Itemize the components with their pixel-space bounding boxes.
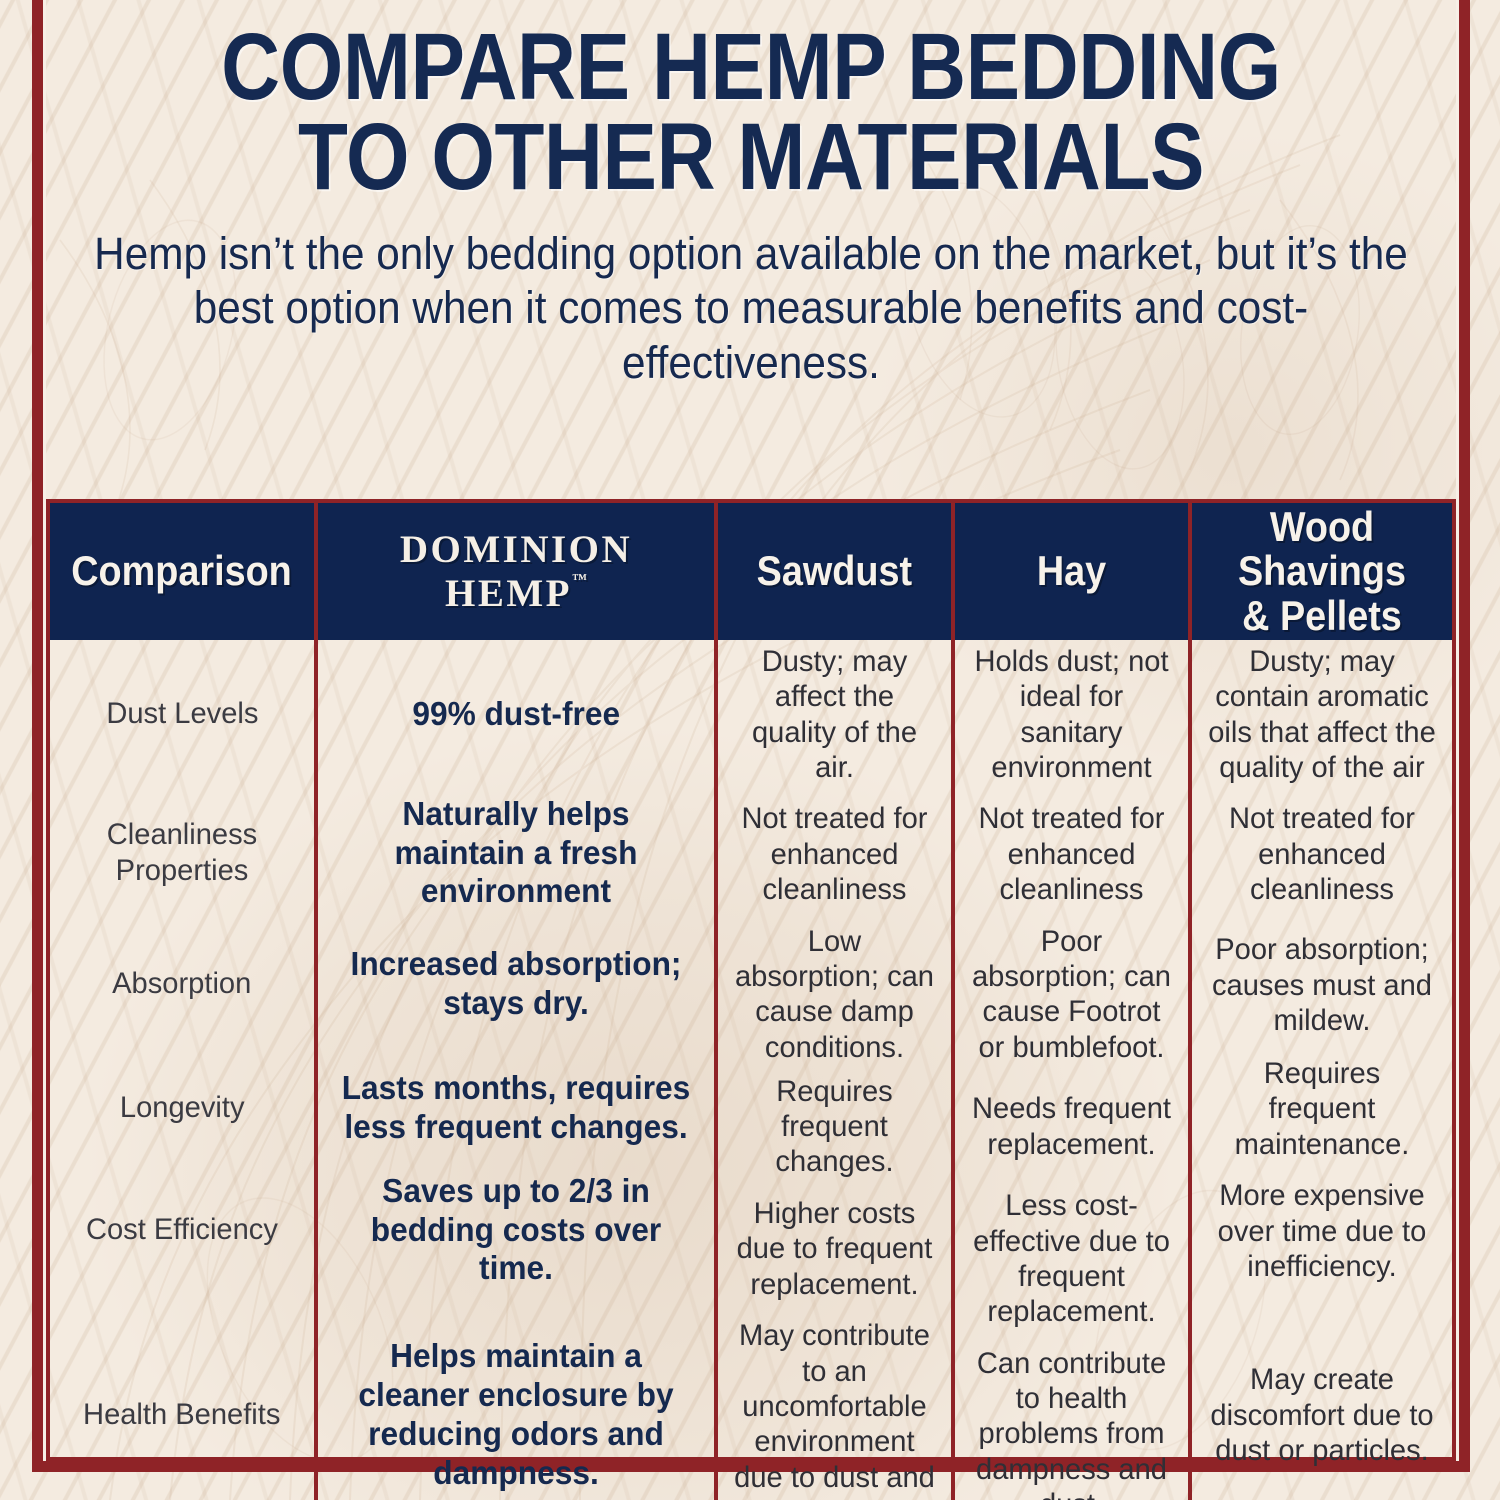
cell-value: Requires frequent changes. — [733, 1074, 936, 1180]
cell-value: Higher costs due to frequent replacement… — [733, 1196, 936, 1302]
table-cell: More expensive over time due to ineffici… — [1192, 1167, 1452, 1297]
table-cell: Longevity — [50, 1050, 314, 1165]
brand-name-top: DOMINION — [400, 528, 632, 572]
page-subtitle: Hemp isn’t the only bedding option avail… — [88, 227, 1413, 392]
column-header-label: Hay — [1037, 549, 1106, 594]
row-label: Cleanliness Properties — [66, 817, 299, 889]
table-cell: Can contribute to health problems from d… — [955, 1334, 1188, 1500]
cell-value: Poor absorption; can cause Footrot or bu… — [970, 924, 1173, 1066]
column-header-label: Sawdust — [757, 549, 912, 594]
column-header-label-line-2: & Pellets — [1242, 592, 1402, 639]
table-body: Dust Levels Cleanliness Properties Absor… — [50, 640, 1452, 1500]
cell-value: Not treated for enhanced cleanliness — [733, 801, 936, 907]
cell-value: 99% dust-free — [412, 695, 620, 734]
cell-value: Can contribute to health problems from d… — [970, 1346, 1173, 1500]
cell-value: Low absorption; can cause damp condition… — [733, 924, 936, 1066]
brand-name-bottom: HEMP™ — [400, 572, 632, 616]
table-cell: Health Benefits — [50, 1295, 314, 1500]
table-column-wood-shavings: Dusty; may contain aromatic oils that af… — [1192, 640, 1452, 1500]
column-header-wood-shavings: Wood Shavings & Pellets — [1192, 503, 1452, 640]
row-label: Dust Levels — [106, 696, 258, 732]
table-cell: Holds dust; not ideal for sanitary envir… — [955, 640, 1188, 790]
cell-value: Dusty; may affect the quality of the air… — [733, 644, 936, 786]
table-cell: May contribute to an uncomfortable envir… — [718, 1314, 951, 1500]
table-header-row: Comparison DOMINION HEMP™ Sawdust Hay Wo… — [50, 503, 1452, 640]
cell-value: Lasts months, requires less frequent cha… — [337, 1069, 694, 1147]
cell-value: Not treated for enhanced cleanliness — [970, 801, 1173, 907]
cell-value: Requires frequent maintenance. — [1208, 1056, 1437, 1162]
page-title: COMPARE HEMP BEDDING TO OTHER MATERIALS — [145, 22, 1358, 203]
table-cell: Not treated for enhanced cleanliness — [955, 790, 1188, 920]
table-cell: Saves up to 2/3 in bedding costs over ti… — [318, 1165, 714, 1295]
table-cell: Dust Levels — [50, 640, 314, 788]
table-cell: Dusty; may affect the quality of the air… — [718, 640, 951, 790]
row-label: Cost Efficiency — [86, 1212, 278, 1248]
column-header-dominion-hemp: DOMINION HEMP™ — [318, 503, 718, 640]
brand-name-bottom-text: HEMP — [445, 572, 572, 615]
column-header-comparison: Comparison — [50, 503, 318, 640]
table-cell: Requires frequent maintenance. — [1192, 1052, 1452, 1167]
table-column-dominion-hemp: 99% dust-free Naturally helps maintain a… — [318, 640, 718, 1500]
cell-value: Saves up to 2/3 in bedding costs over ti… — [337, 1172, 694, 1289]
table-cell: Needs frequent replacement. — [955, 1069, 1188, 1184]
comparison-table: Comparison DOMINION HEMP™ Sawdust Hay Wo… — [46, 499, 1456, 1461]
dominion-hemp-logo: DOMINION HEMP™ — [400, 528, 632, 615]
table-cell: Not treated for enhanced cleanliness — [718, 790, 951, 920]
table-column-comparison: Dust Levels Cleanliness Properties Absor… — [50, 640, 318, 1500]
page-title-line-2: TO OTHER MATERIALS — [145, 112, 1358, 202]
table-cell: Cleanliness Properties — [50, 788, 314, 918]
cell-value: Increased absorption; stays dry. — [337, 945, 694, 1023]
column-header-label: Wood Shavings & Pellets — [1212, 505, 1432, 639]
masthead: COMPARE HEMP BEDDING TO OTHER MATERIALS … — [46, 22, 1456, 391]
cell-value: Naturally helps maintain a fresh environ… — [337, 795, 694, 912]
trademark-symbol: ™ — [572, 572, 587, 588]
column-header-label: Comparison — [72, 549, 293, 594]
cell-value: Not treated for enhanced cleanliness — [1208, 801, 1437, 907]
cell-value: Helps maintain a cleaner enclosure by re… — [337, 1337, 694, 1493]
table-column-sawdust: Dusty; may affect the quality of the air… — [718, 640, 955, 1500]
cell-value: Less cost-effective due to frequent repl… — [970, 1188, 1173, 1330]
table-cell: Not treated for enhanced cleanliness — [1192, 790, 1452, 920]
table-cell: Lasts months, requires less frequent cha… — [318, 1050, 714, 1165]
cell-value: May create discomfort due to dust or par… — [1208, 1362, 1437, 1468]
row-label: Absorption — [112, 966, 251, 1002]
table-cell: Less cost-effective due to frequent repl… — [955, 1184, 1188, 1334]
cell-value: More expensive over time due to ineffici… — [1208, 1178, 1437, 1284]
table-cell: Naturally helps maintain a fresh environ… — [318, 788, 714, 918]
cell-value: Needs frequent replacement. — [970, 1091, 1173, 1162]
table-cell: Helps maintain a cleaner enclosure by re… — [318, 1295, 714, 1500]
table-cell: Low absorption; can cause damp condition… — [718, 920, 951, 1070]
table-cell: Increased absorption; stays dry. — [318, 918, 714, 1050]
cell-value: May contribute to an uncomfortable envir… — [733, 1318, 936, 1500]
cell-value: Dusty; may contain aromatic oils that af… — [1208, 644, 1437, 786]
table-cell: May create discomfort due to dust or par… — [1192, 1297, 1452, 1500]
row-label: Health Benefits — [83, 1397, 280, 1433]
row-label: Longevity — [120, 1090, 245, 1126]
table-cell: Cost Efficiency — [50, 1165, 314, 1295]
table-cell: 99% dust-free — [318, 640, 714, 788]
table-cell: Requires frequent changes. — [718, 1069, 951, 1184]
column-header-sawdust: Sawdust — [718, 503, 955, 640]
table-column-hay: Holds dust; not ideal for sanitary envir… — [955, 640, 1192, 1500]
table-cell: Poor absorption; causes must and mildew. — [1192, 920, 1452, 1052]
column-header-label-line-1: Wood Shavings — [1238, 503, 1406, 595]
table-cell: Higher costs due to frequent replacement… — [718, 1184, 951, 1314]
table-cell: Dusty; may contain aromatic oils that af… — [1192, 640, 1452, 790]
column-header-hay: Hay — [955, 503, 1192, 640]
table-cell: Poor absorption; can cause Footrot or bu… — [955, 920, 1188, 1070]
cell-value: Holds dust; not ideal for sanitary envir… — [970, 644, 1173, 786]
cell-value: Poor absorption; causes must and mildew. — [1208, 932, 1437, 1038]
table-cell: Absorption — [50, 918, 314, 1050]
